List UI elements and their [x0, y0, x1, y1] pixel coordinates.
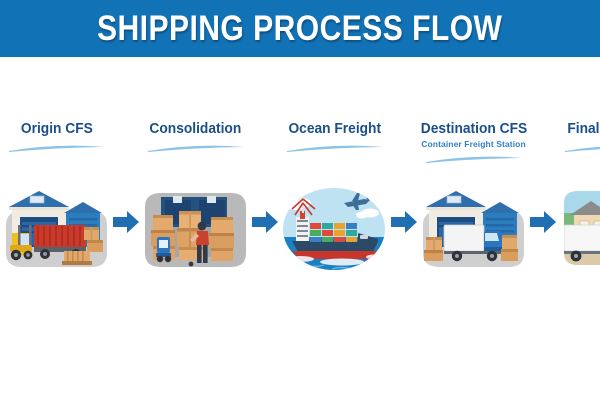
step-label-origin-cfs: Origin CFS	[21, 120, 93, 138]
process-flow-row: Origin CFS	[0, 120, 600, 285]
step-label-ocean-freight: Ocean Freight	[288, 120, 381, 138]
step-label-destination-cfs: Destination CFS	[420, 120, 526, 138]
step-header-ocean-freight: Ocean Freight	[275, 120, 395, 182]
flow-step-consolidation[interactable]: Consolidation	[139, 120, 252, 273]
swoosh-underline-icon	[424, 151, 524, 169]
step-label-final-delivery: Final Delivery	[568, 120, 600, 138]
illustration-ocean-freight	[278, 185, 391, 273]
swoosh-underline-icon	[7, 140, 107, 158]
illustration-consolidation	[139, 185, 252, 273]
illustration-origin-cfs	[0, 185, 113, 273]
swoosh-underline-icon	[285, 140, 385, 158]
step-header-consolidation: Consolidation	[136, 120, 256, 182]
illustration-final-delivery	[556, 185, 600, 273]
illustration-destination-cfs	[417, 185, 530, 273]
flow-step-final-delivery[interactable]: Final Delivery	[556, 120, 600, 273]
step-header-destination-cfs: Destination CFS Container Freight Statio…	[414, 120, 534, 182]
swoosh-underline-icon	[563, 140, 600, 158]
step-label-consolidation: Consolidation	[150, 120, 242, 138]
flow-step-origin-cfs[interactable]: Origin CFS	[0, 120, 113, 273]
flow-step-destination-cfs[interactable]: Destination CFS Container Freight Statio…	[417, 120, 530, 273]
step-header-origin-cfs: Origin CFS	[0, 120, 117, 182]
shipping-process-flow-infographic: SHIPPING PROCESS FLOW Origin CFS	[0, 0, 600, 400]
title-banner: SHIPPING PROCESS FLOW	[0, 0, 600, 57]
step-sublabel-destination-cfs: Container Freight Station	[421, 139, 526, 149]
swoosh-underline-icon	[146, 140, 246, 158]
page-title: SHIPPING PROCESS FLOW	[97, 9, 502, 49]
step-header-final-delivery: Final Delivery	[553, 120, 600, 182]
flow-step-ocean-freight[interactable]: Ocean Freight	[278, 120, 391, 273]
